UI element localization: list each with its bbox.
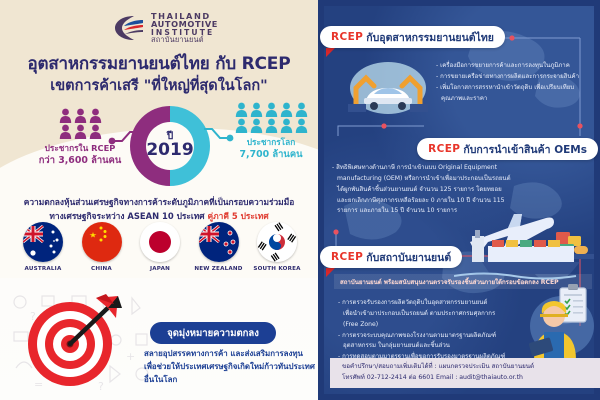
person-icon xyxy=(74,124,87,139)
person-icon xyxy=(265,102,278,117)
flag-new-zealand-icon xyxy=(199,222,239,262)
person-icon xyxy=(250,118,263,133)
bullet-continued: เพื่อนำเข้ามาประกอบเป็นรถยนต์ ตามประกาศก… xyxy=(338,309,538,320)
person-icon xyxy=(265,118,278,133)
stat-world-population: ประชากรโลก 7,700 ล้านคน xyxy=(224,102,318,163)
people-icons-row-1 xyxy=(26,108,134,123)
flag-australia-icon xyxy=(23,222,63,262)
person-icon xyxy=(89,108,102,123)
goal-badge: จุดมุ่งหมายความตกลง xyxy=(150,322,276,344)
donut-year-value: 2019 xyxy=(146,142,193,160)
bullet-continued: อุตสาหกรรม ในกลุ่มยานยนต์และชิ้นส่วน xyxy=(338,341,538,352)
section-3-badge-rest: กับสถาบันยานยนต์ xyxy=(366,249,451,266)
bullet: - การขยายเครือข่ายทางการผลิตและการกระจาย… xyxy=(436,72,588,83)
donut-center: ปี 2019 xyxy=(146,122,194,170)
bullet-continued: รายการ และภายใน 15 ปี จำนวน 10 รายการ xyxy=(332,206,558,217)
person-icon xyxy=(295,118,308,133)
section-2-badge-rest: กับการนำเข้าสินค้า OEMs xyxy=(463,141,587,158)
flag-item: SOUTH KOREA xyxy=(250,222,304,272)
flag-label: CHINA xyxy=(75,266,129,272)
flag-label: NEW ZEALAND xyxy=(192,266,246,272)
section-2-bullets: - สิทธิพิเศษทางด้านภาษี การนำเข้าแบบ Ori… xyxy=(332,163,558,217)
person-icon xyxy=(250,102,263,117)
section-1-ribbon-tail xyxy=(326,48,335,57)
bullet: - การตรวจรับรองการผลิตวัตถุดิบในอุตสาหกร… xyxy=(338,298,538,309)
population-donut-chart: ปี 2019 xyxy=(130,106,210,186)
robot-arm-car-assembly-icon xyxy=(338,54,438,116)
bullet-continued: manufacturing (OEM) หรือการนำเข้าเพื่อมา… xyxy=(332,174,558,185)
bullet-continued: ได้ผูกพันสินค้าชิ้นส่วนยานยนต์ จำนวน 125… xyxy=(332,185,558,196)
bullet: - เพิ่มโอกาสการสรรหานำเข้าวัตถุดิบ เพื่อ… xyxy=(436,83,588,94)
right-panel-inner: RCEP กับอุตสาหกรรมยานยนต์ไทย - เครื่องมื… xyxy=(324,6,594,394)
section-3-badge-accent: RCEP xyxy=(331,251,363,263)
flag-item: AUSTRALIA xyxy=(16,222,70,272)
flag-japan-icon xyxy=(140,222,180,262)
logo-line-4: สถาบันยานยนต์ xyxy=(151,36,218,44)
goal-description: สลายอุปสรรคทางการค้า และส่งเสริมการลงทุน… xyxy=(144,348,318,386)
goal-line-1: สลายอุปสรรคทางการค้า และส่งเสริมการลงทุน xyxy=(144,349,303,358)
target-dartboard-icon xyxy=(22,292,128,392)
section-1-bullets: - เครื่องมือการขยายการค้าและการลงทุนในภู… xyxy=(436,61,588,104)
person-icon xyxy=(235,118,248,133)
flag-item: JAPAN xyxy=(133,222,187,272)
flag-item: CHINA xyxy=(75,222,129,272)
section-1-badge-accent: RCEP xyxy=(331,31,363,43)
description-line-1: ความตกลงหุ้นส่วนเศรษฐกิจทางการค้าระดับภู… xyxy=(24,197,295,207)
goal-line-3: อื่นในโลก xyxy=(144,375,177,384)
left-panel: THAILAND AUTOMOTIVE INSTITUTE สถาบันยานย… xyxy=(0,0,318,400)
section-3-badge: RCEP กับสถาบันยานยนต์ xyxy=(320,246,462,268)
stat-left-label: ประชากรใน RCEP xyxy=(26,142,134,154)
person-icon xyxy=(280,118,293,133)
page-title-line-2: เขตการค้าเสรี "ที่ใหญ่ที่สุดในโลก" xyxy=(0,74,318,97)
cargo-ship-container-icon xyxy=(454,228,594,280)
partner-country-flags: AUSTRALIA CHINA xyxy=(16,222,304,272)
page-title-line-1: อุตสาหกรรมยานยนต์ไทย กับ RCEP xyxy=(0,50,318,77)
bullet: - เครื่องมือการขยายการค้าและการลงทุนในภู… xyxy=(436,61,588,72)
flag-item: NEW ZEALAND xyxy=(192,222,246,272)
section-1-badge: RCEP กับอุตสาหกรรมยานยนต์ไทย xyxy=(320,26,505,48)
person-icon xyxy=(59,124,72,139)
section-3-sub-strip: สถาบันยานยนต์ พร้อมสนับสนุนงานตรวจรับรอง… xyxy=(334,274,592,289)
person-icon xyxy=(280,102,293,117)
footer-line-1: ขอคำปรึกษา/สอบถามเพิ่มเติมได้ที่ : แผนกต… xyxy=(342,362,600,373)
person-icon xyxy=(59,108,72,123)
description-line-2-pre: ทางเศรษฐกิจระหว่าง ASEAN 10 ประเทศ xyxy=(49,211,207,221)
flag-south-korea-icon xyxy=(257,222,297,262)
footer-contact: ขอคำปรึกษา/สอบถามเพิ่มเติมได้ที่ : แผนกต… xyxy=(330,358,600,388)
agreement-description: ความตกลงหุ้นส่วนเศรษฐกิจทางการค้าระดับภู… xyxy=(14,196,304,224)
person-icon xyxy=(235,102,248,117)
flag-label: AUSTRALIA xyxy=(16,266,70,272)
bullet-continued: คุณภาพและราคา xyxy=(436,94,588,105)
section-2-badge: RCEP กับการนำเข้าสินค้า OEMs xyxy=(417,138,598,160)
bullet-continued: และยกเลิกภาษีศุลกากรเหลือร้อยละ 0 ภายใน … xyxy=(332,196,558,207)
brand-logo: THAILAND AUTOMOTIVE INSTITUTE สถาบันยานย… xyxy=(112,8,237,48)
infographic-page: THAILAND AUTOMOTIVE INSTITUTE สถาบันยานย… xyxy=(0,0,600,400)
people-icons-row-2 xyxy=(224,118,318,133)
people-icons-row-1 xyxy=(224,102,318,117)
footer-line-2: โทรศัพท์ 02-712-2414 ต่อ 6601 Email : au… xyxy=(342,373,600,384)
bullet: - สิทธิพิเศษทางด้านภาษี การนำเข้าแบบ Ori… xyxy=(332,163,558,174)
stat-left-value: กว่า 3,600 ล้านคน xyxy=(26,154,134,168)
section-1-badge-rest: กับอุตสาหกรรมยานยนต์ไทย xyxy=(366,29,494,46)
people-icons-row-2 xyxy=(26,124,134,139)
person-icon xyxy=(74,108,87,123)
flag-label: SOUTH KOREA xyxy=(250,266,304,272)
description-line-2-highlight: คู่ภาคี 5 ประเทศ xyxy=(208,211,269,221)
bullet-continued: (Free Zone) xyxy=(338,320,538,331)
section-2-badge-accent: RCEP xyxy=(428,143,460,155)
swoosh-logo-icon xyxy=(112,12,146,44)
stat-right-label: ประชากรโลก xyxy=(224,136,318,148)
flag-label: JAPAN xyxy=(133,266,187,272)
goal-line-2: เพื่อช่วยให้ประเทศเศรษฐกิจเกิดใหม่ก้าวทั… xyxy=(144,362,315,371)
person-icon xyxy=(89,124,102,139)
person-icon xyxy=(295,102,308,117)
right-panel: RCEP กับอุตสาหกรรมยานยนต์ไทย - เครื่องมื… xyxy=(318,0,600,400)
bullet: - การตรวจระบบคุณภาพของโรงงานตามมาตรฐานผล… xyxy=(338,331,538,342)
stat-rcep-population: ประชากรใน RCEP กว่า 3,600 ล้านคน xyxy=(26,108,134,169)
flag-china-icon xyxy=(82,222,122,262)
stat-right-value: 7,700 ล้านคน xyxy=(224,148,318,162)
